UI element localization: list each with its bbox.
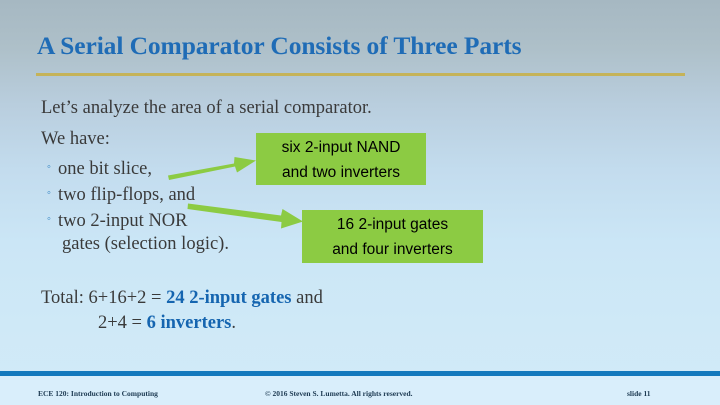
- arrow-to-bit-slice-callout: [168, 157, 256, 180]
- page-title: A Serial Comparator Consists of Three Pa…: [37, 31, 687, 61]
- callout-line-2: and four inverters: [310, 237, 475, 262]
- total-line-inverters: 2+4 = 6 inverters.: [98, 313, 236, 334]
- bullet-marker-icon: ◦: [47, 162, 58, 173]
- list-item: ◦one bit slice,: [47, 159, 152, 180]
- total-inverters-suffix: .: [231, 313, 236, 333]
- footer-slide-number: slide 11: [627, 389, 651, 398]
- bullet-marker-icon: ◦: [47, 214, 58, 225]
- callout-line-1: 16 2-input gates: [310, 212, 475, 237]
- callout-line-1: six 2-input NAND: [264, 135, 418, 160]
- list-item: ◦two flip-flops, and: [47, 185, 195, 206]
- list-item: ◦two 2-input NOR: [47, 211, 188, 232]
- total-gates-suffix: and: [291, 288, 322, 308]
- arrow-to-flip-flop-callout: [188, 204, 304, 229]
- footer-copyright: © 2016 Steven S. Lumetta. All rights res…: [265, 389, 413, 398]
- intro-text: Let’s analyze the area of a serial compa…: [41, 98, 372, 119]
- list-item-label: two 2-input NOR: [58, 211, 188, 232]
- total-line-gates: Total: 6+16+2 = 24 2-input gates and: [41, 288, 323, 309]
- callout-flip-flop: 16 2-input gates and four inverters: [302, 210, 483, 263]
- list-item-continuation: gates (selection logic).: [62, 234, 229, 255]
- callout-bit-slice: six 2-input NAND and two inverters: [256, 133, 426, 185]
- total-gates-prefix: Total: 6+16+2 =: [41, 288, 166, 308]
- total-inverters-prefix: 2+4 =: [98, 313, 147, 333]
- total-gates-value: 24 2-input gates: [166, 288, 291, 308]
- we-have-label: We have:: [41, 129, 110, 150]
- list-item-label: two flip-flops, and: [58, 185, 195, 206]
- total-inverters-value: 6 inverters: [147, 313, 232, 333]
- footer-course-name: ECE 120: Introduction to Computing: [38, 389, 158, 398]
- callout-line-2: and two inverters: [264, 160, 418, 185]
- slide-canvas: A Serial Comparator Consists of Three Pa…: [0, 0, 720, 405]
- list-item-label: one bit slice,: [58, 159, 152, 180]
- bullet-marker-icon: ◦: [47, 188, 58, 199]
- title-divider: [36, 73, 685, 76]
